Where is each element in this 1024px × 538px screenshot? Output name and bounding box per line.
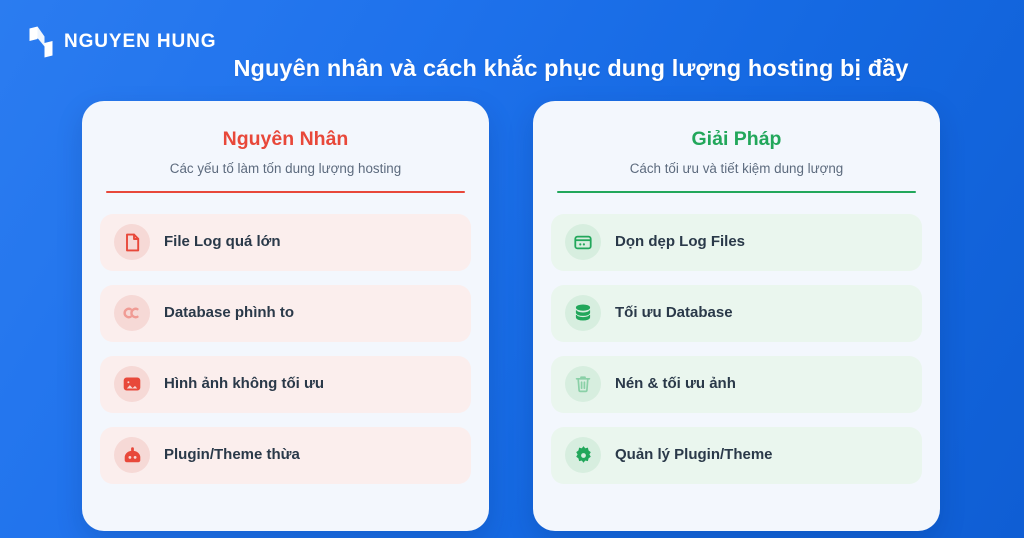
brand-name: NGUYEN HUNG — [64, 31, 216, 53]
list-item-label: Hình ảnh không tối ưu — [164, 375, 324, 393]
list-item[interactable]: Plugin/Theme thừa — [100, 427, 471, 484]
card-solution: Giải Pháp Cách tối ưu và tiết kiệm dung … — [533, 101, 940, 531]
list-item[interactable]: Quản lý Plugin/Theme — [551, 427, 922, 484]
image-icon — [114, 366, 150, 402]
list-item-label: Tối ưu Database — [615, 304, 733, 322]
list-item-label: Database phình to — [164, 304, 294, 322]
card-cause-header: Nguyên Nhân Các yếu tố làm tốn dung lượn… — [100, 123, 471, 178]
list-item[interactable]: Hình ảnh không tối ưu — [100, 356, 471, 413]
gear-icon — [565, 437, 601, 473]
card-solution-header: Giải Pháp Cách tối ưu và tiết kiệm dung … — [551, 123, 922, 178]
trash-icon — [565, 366, 601, 402]
list-item[interactable]: Tối ưu Database — [551, 285, 922, 342]
file-icon — [114, 224, 150, 260]
list-item[interactable]: Database phình to — [100, 285, 471, 342]
card-solution-divider — [557, 191, 916, 193]
list-item-label: Dọn dẹp Log Files — [615, 233, 745, 251]
list-item[interactable]: Nén & tối ưu ảnh — [551, 356, 922, 413]
list-item[interactable]: File Log quá lớn — [100, 214, 471, 271]
card-solution-list: Dọn dẹp Log Files Tối ưu Database — [551, 214, 922, 484]
brand-logo: NGUYEN HUNG — [28, 26, 216, 58]
card-solution-subtitle: Cách tối ưu và tiết kiệm dung lượng — [559, 160, 914, 177]
list-item-label: Nén & tối ưu ảnh — [615, 375, 736, 393]
nguyen-hung-monogram-icon — [28, 26, 54, 58]
comparison-board: Nguyên Nhân Các yếu tố làm tốn dung lượn… — [82, 101, 940, 531]
database-icon — [114, 295, 150, 331]
card-cause: Nguyên Nhân Các yếu tố làm tốn dung lượn… — [82, 101, 489, 531]
card-solution-title: Giải Pháp — [559, 127, 914, 151]
card-cause-list: File Log quá lớn Database phình to — [100, 214, 471, 484]
card-cause-title: Nguyên Nhân — [108, 127, 463, 151]
page-title: Nguyên nhân và cách khắc phục dung lượng… — [0, 55, 1024, 82]
list-item[interactable]: Dọn dẹp Log Files — [551, 214, 922, 271]
robot-plugin-icon — [114, 437, 150, 473]
card-cause-divider — [106, 191, 465, 193]
list-item-label: File Log quá lớn — [164, 233, 281, 251]
list-item-label: Plugin/Theme thừa — [164, 446, 300, 464]
window-log-icon — [565, 224, 601, 260]
database-stack-icon — [565, 295, 601, 331]
card-cause-subtitle: Các yếu tố làm tốn dung lượng hosting — [108, 160, 463, 177]
list-item-label: Quản lý Plugin/Theme — [615, 446, 773, 464]
